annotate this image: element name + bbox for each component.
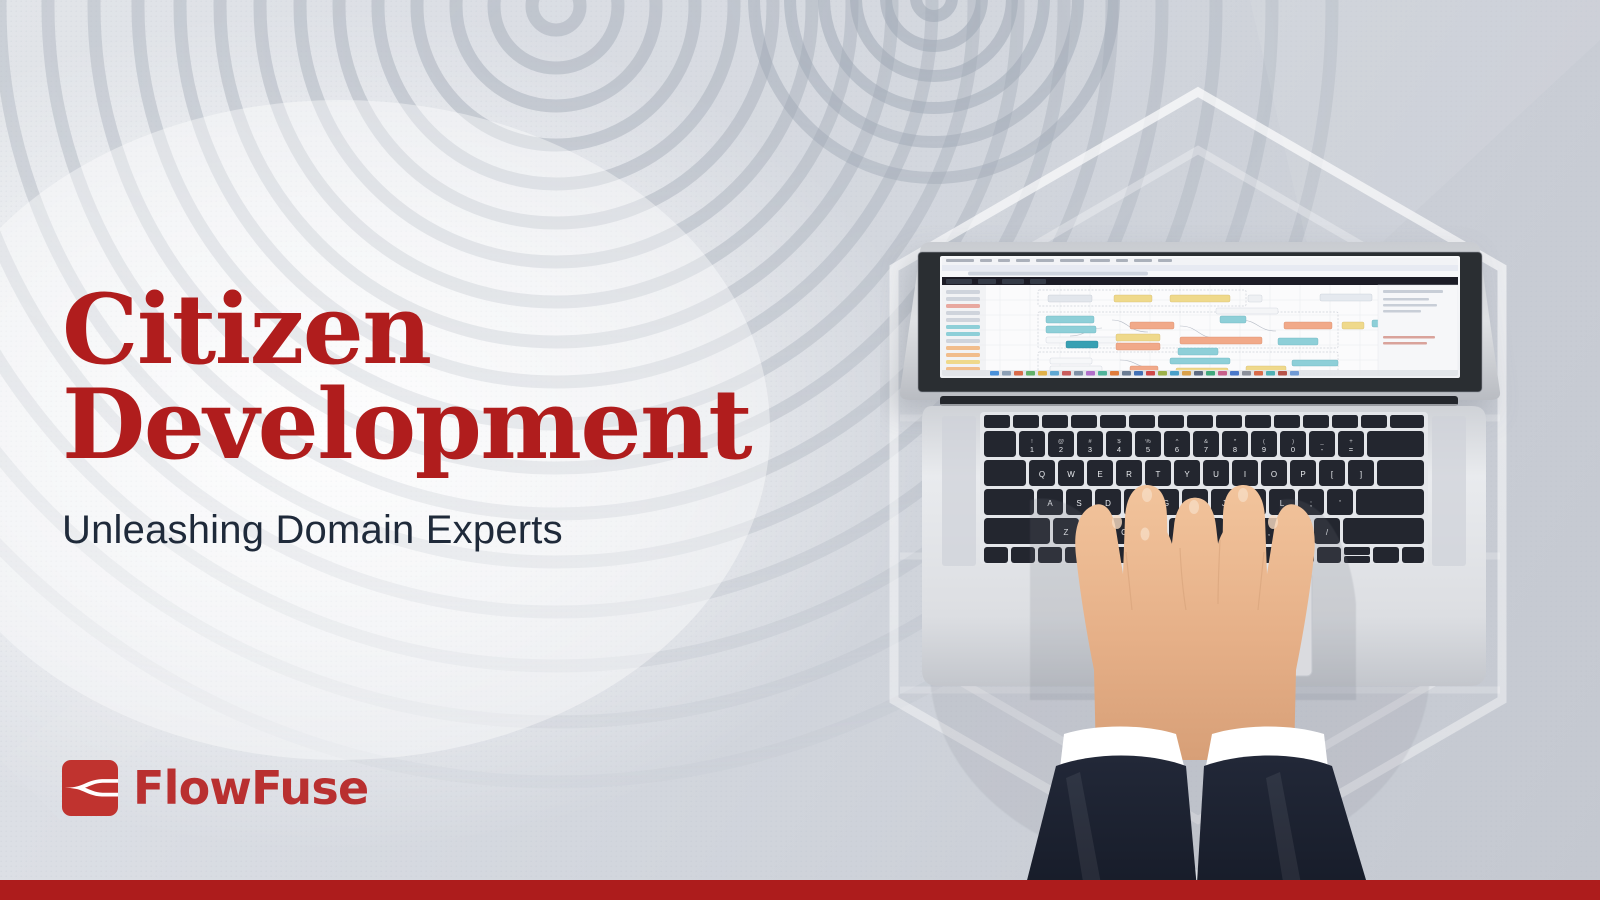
concentric-rings-right: [754, 0, 1114, 178]
svg-text:8: 8: [1233, 445, 1237, 454]
svg-text:(: (: [1263, 439, 1265, 445]
shirt-cuffs: [1060, 727, 1328, 769]
speaker-grille-right: [1432, 416, 1466, 566]
svg-text:3: 3: [1088, 445, 1092, 454]
svg-text:O: O: [1271, 470, 1277, 479]
svg-text:-: -: [1321, 445, 1324, 454]
svg-text:4: 4: [1117, 445, 1121, 454]
svg-text:Z: Z: [1064, 528, 1069, 537]
laptop-hinge: [940, 396, 1458, 406]
svg-text:K: K: [1250, 499, 1256, 508]
svg-text:0: 0: [1291, 445, 1295, 454]
right-hand: [1134, 485, 1315, 760]
svg-text:F: F: [1135, 499, 1140, 508]
svg-text:/: /: [1326, 528, 1329, 537]
laptop-shadow: [930, 470, 1430, 870]
svg-text:A: A: [1047, 499, 1053, 508]
svg-text:L: L: [1280, 499, 1285, 508]
svg-text:M: M: [1237, 528, 1244, 537]
svg-text:6: 6: [1175, 445, 1179, 454]
keyboard-well: [980, 412, 1428, 564]
svg-text:U: U: [1213, 470, 1219, 479]
svg-text:H: H: [1192, 499, 1198, 508]
keyboard-keys: [984, 415, 1424, 563]
svg-text:V: V: [1150, 528, 1156, 537]
svg-text:Q: Q: [1039, 470, 1045, 479]
bottom-accent-bar: [0, 880, 1600, 900]
svg-text:_: _: [1319, 439, 1324, 445]
page-title: Citizen Development: [62, 282, 822, 472]
svg-text:S: S: [1076, 499, 1081, 508]
hexagon-outline: [894, 92, 1502, 876]
svg-text:9: 9: [1262, 445, 1266, 454]
flowfuse-logo[interactable]: FlowFuse: [62, 760, 368, 816]
svg-text:2: 2: [1059, 445, 1063, 454]
svg-text:): ): [1292, 439, 1294, 445]
svg-text:G: G: [1163, 499, 1169, 508]
svg-text:J: J: [1222, 499, 1226, 508]
svg-text:R: R: [1126, 470, 1132, 479]
suit-sleeves: [1022, 756, 1372, 900]
svg-text:Y: Y: [1184, 470, 1190, 479]
svg-text:^: ^: [1176, 439, 1179, 445]
hexagon-outline-inner: [944, 150, 1452, 820]
svg-text:B: B: [1179, 528, 1184, 537]
svg-text:T: T: [1156, 470, 1161, 479]
key-legends: 12 34 56 78 90 -= !@ #$ %^ &* () _+: [1030, 439, 1362, 537]
svg-text:E: E: [1097, 470, 1102, 479]
flowfuse-fuse-mark-icon: [62, 760, 118, 816]
hexagon-guide-lines: [900, 418, 1500, 690]
svg-text:P: P: [1300, 470, 1305, 479]
speaker-grille-left: [942, 416, 976, 566]
svg-text:!: !: [1031, 439, 1033, 445]
svg-text:]: ]: [1360, 470, 1362, 479]
hands-typing: [1022, 485, 1372, 900]
flow-nodes: [1046, 294, 1406, 374]
svg-text:1: 1: [1030, 445, 1034, 454]
palette-nodes: [946, 290, 980, 371]
brand-wordmark: FlowFuse: [133, 765, 368, 811]
svg-text:*: *: [1234, 439, 1237, 445]
svg-text:.: .: [1297, 528, 1299, 537]
laptop-hands-photo: 12 34 56 78 90 -= !@ #$ %^ &* () _+: [880, 200, 1520, 900]
svg-text:5: 5: [1146, 445, 1150, 454]
svg-text:#: #: [1088, 439, 1092, 445]
svg-text:W: W: [1067, 470, 1075, 479]
svg-text:=: =: [1349, 445, 1354, 454]
svg-text:': ': [1339, 499, 1341, 508]
hero-text-block: Citizen Development Unleashing Domain Ex…: [62, 282, 822, 553]
left-hand: [1075, 485, 1256, 760]
svg-text:$: $: [1117, 439, 1121, 445]
laptop-display: [900, 242, 1500, 400]
page-subtitle: Unleashing Domain Experts: [62, 508, 822, 553]
laptop-screen-content: [942, 258, 1458, 376]
banner-canvas: 12 34 56 78 90 -= !@ #$ %^ &* () _+: [0, 0, 1600, 900]
svg-text:&: &: [1204, 439, 1208, 445]
svg-text:I: I: [1244, 470, 1246, 479]
svg-text:[: [: [1331, 470, 1334, 479]
svg-text:D: D: [1105, 499, 1111, 508]
svg-text:;: ;: [1310, 499, 1312, 508]
svg-text:N: N: [1208, 528, 1214, 537]
svg-text:@: @: [1058, 439, 1064, 445]
laptop-base: 12 34 56 78 90 -= !@ #$ %^ &* () _+: [922, 406, 1486, 686]
svg-text:X: X: [1092, 528, 1098, 537]
svg-text:C: C: [1121, 528, 1127, 537]
svg-text:,: ,: [1268, 528, 1270, 537]
svg-text:%: %: [1145, 439, 1151, 445]
trackpad: [1096, 572, 1312, 676]
svg-text:7: 7: [1204, 445, 1208, 454]
svg-text:+: +: [1349, 439, 1353, 445]
